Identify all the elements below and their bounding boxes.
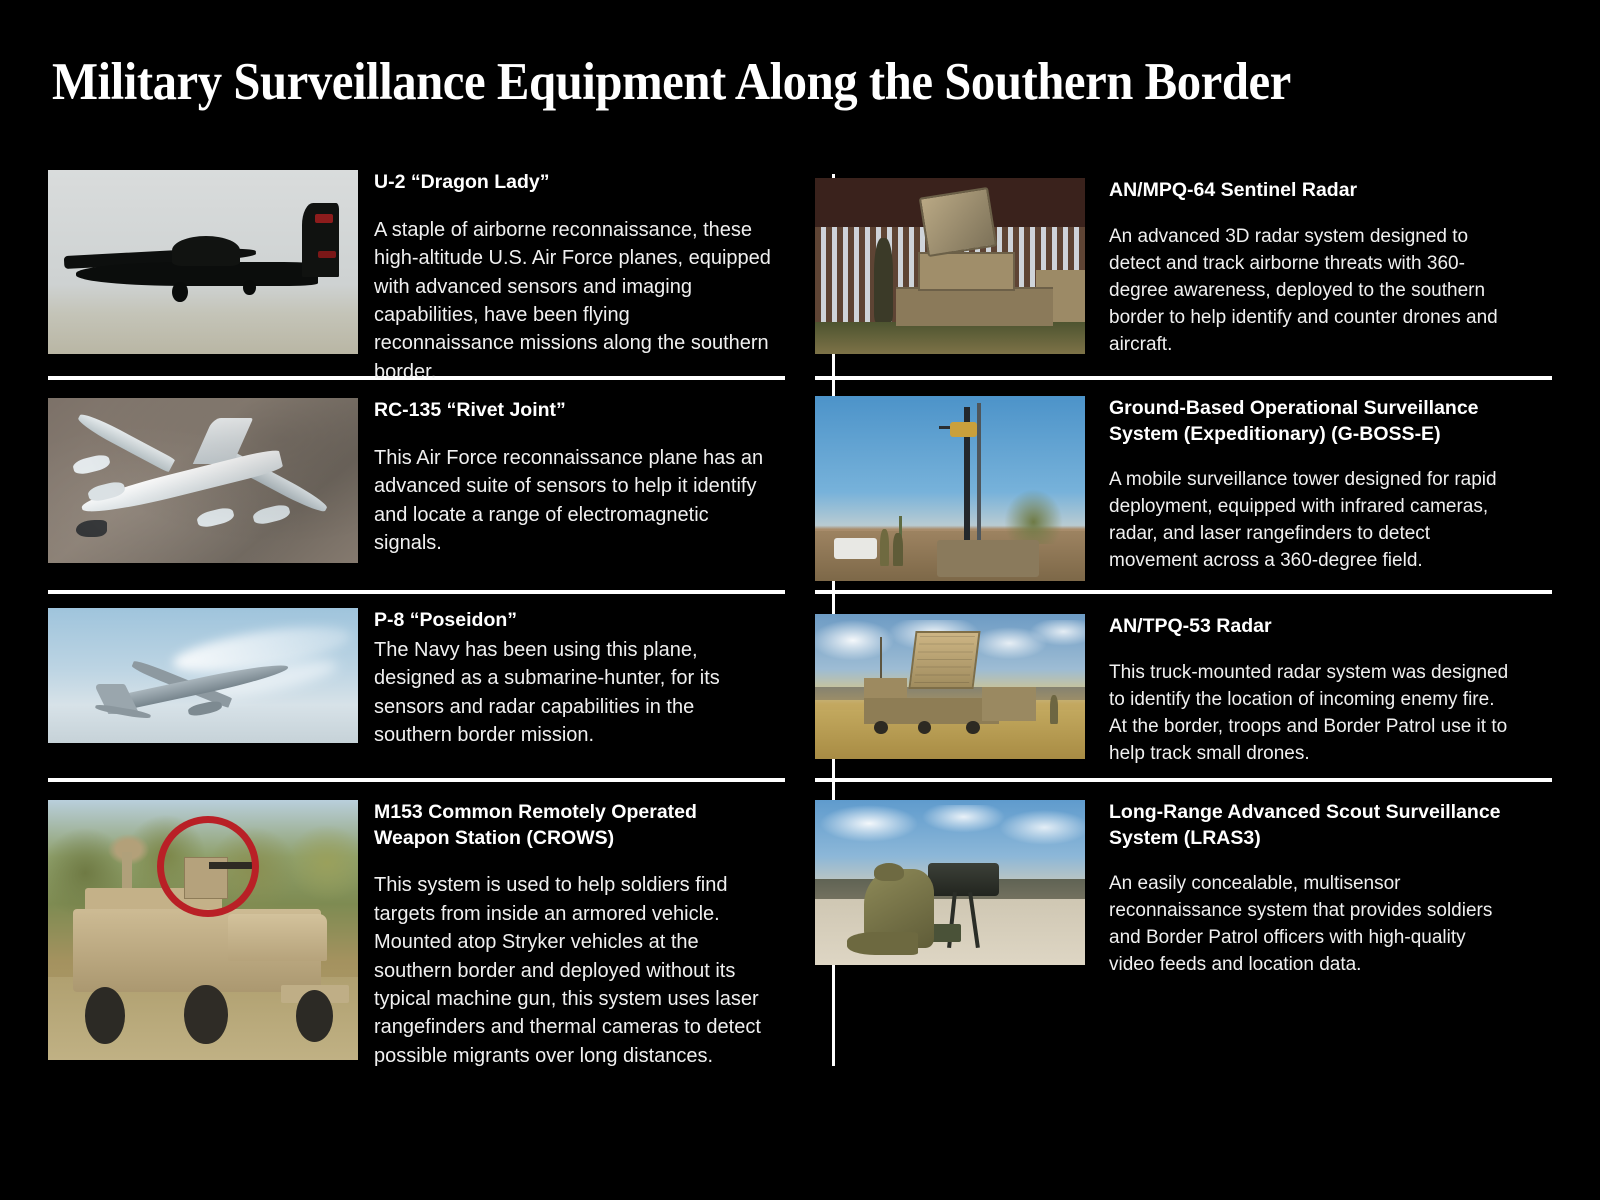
entry-body: The Navy has been using this plane, desi… — [374, 636, 774, 750]
entry-an-tpq-53: AN/TPQ-53 Radar This truck-mounted radar… — [815, 614, 1552, 768]
entry-title: U-2 “Dragon Lady” — [374, 170, 774, 196]
entry-m153-crows: M153 Common Remotely Operated Weapon Sta… — [48, 800, 785, 1070]
entry-rc135: RC-135 “Rivet Joint” This Air Force reco… — [48, 398, 785, 563]
entry-title: Long-Range Advanced Scout Surveillance S… — [1109, 800, 1509, 851]
entry-lras3: Long-Range Advanced Scout Surveillance S… — [815, 800, 1552, 979]
content-grid: U-2 “Dragon Lady” A staple of airborne r… — [48, 170, 1552, 1070]
entry-body: A staple of airborne reconnaissance, the… — [374, 216, 774, 386]
entry-an-mpq-64: AN/MPQ-64 Sentinel Radar An advanced 3D … — [815, 178, 1552, 359]
entry-body: This system is used to help soldiers fin… — [374, 871, 774, 1070]
entry-u2: U-2 “Dragon Lady” A staple of airborne r… — [48, 170, 785, 386]
entry-title: P-8 “Poseidon” — [374, 608, 774, 634]
g-boss-e-photo — [815, 396, 1085, 581]
an-tpq-53-radar-photo — [815, 614, 1085, 759]
left-column: U-2 “Dragon Lady” A staple of airborne r… — [48, 170, 785, 1070]
entry-body: A mobile surveillance tower designed for… — [1109, 467, 1509, 575]
entry-body: This Air Force reconnaissance plane has … — [374, 444, 774, 558]
entry-g-boss-e: Ground-Based Operational Surveillance Sy… — [815, 396, 1552, 581]
p8-poseidon-photo — [48, 608, 358, 743]
m153-crows-photo — [48, 800, 358, 1060]
infographic-page: Military Surveillance Equipment Along th… — [0, 0, 1600, 1200]
entry-title: RC-135 “Rivet Joint” — [374, 398, 774, 424]
entry-body: An advanced 3D radar system designed to … — [1109, 224, 1509, 359]
entry-title: AN/TPQ-53 Radar — [1109, 614, 1509, 640]
entry-body: An easily concealable, multisensor recon… — [1109, 871, 1509, 979]
entry-body: This truck-mounted radar system was desi… — [1109, 660, 1509, 768]
rc135-rivet-joint-photo — [48, 398, 358, 563]
entry-title: AN/MPQ-64 Sentinel Radar — [1109, 178, 1509, 204]
lras3-photo — [815, 800, 1085, 965]
entry-title: M153 Common Remotely Operated Weapon Sta… — [374, 800, 774, 851]
red-circle-annotation — [157, 816, 259, 917]
u2-dragon-lady-photo — [48, 170, 358, 354]
entry-title: Ground-Based Operational Surveillance Sy… — [1109, 396, 1509, 447]
entry-p8: P-8 “Poseidon” The Navy has been using t… — [48, 608, 785, 749]
page-title: Military Surveillance Equipment Along th… — [52, 52, 1432, 112]
an-mpq-64-sentinel-radar-photo — [815, 178, 1085, 354]
right-column: AN/MPQ-64 Sentinel Radar An advanced 3D … — [815, 170, 1552, 1070]
